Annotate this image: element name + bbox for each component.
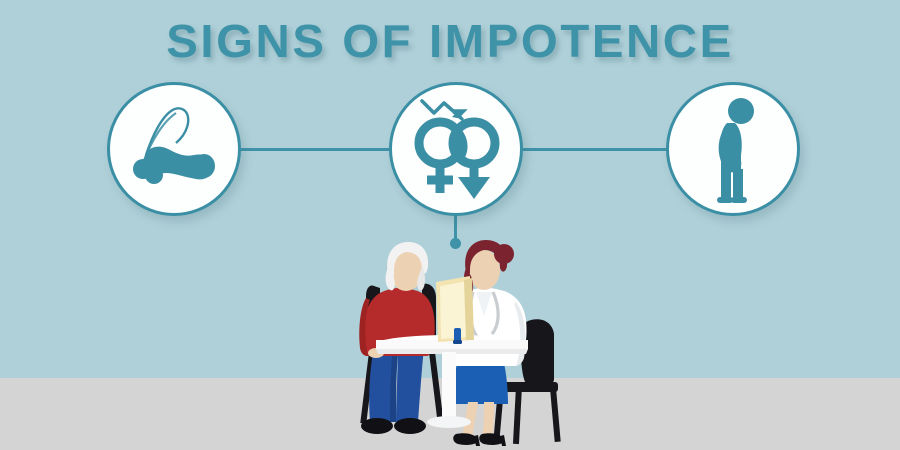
desk-pen xyxy=(453,328,462,344)
icon-circle-gender-symbols[interactable] xyxy=(389,82,523,216)
connector-left-to-center xyxy=(236,148,394,151)
page-title: SIGNS OF IMPOTENCE xyxy=(0,14,900,68)
doctor-hair-bun xyxy=(494,244,514,264)
poster-root: SIGNS OF IMPOTENCE xyxy=(0,0,900,450)
icon-circle-drooping-anatomy[interactable] xyxy=(107,82,241,216)
drooping-anatomy-icon xyxy=(110,85,238,213)
connector-center-to-right xyxy=(518,148,670,151)
doctor-heels xyxy=(453,433,506,446)
icon-circle-dejected-man[interactable] xyxy=(666,82,800,216)
dejected-man-icon xyxy=(669,85,797,213)
patient-head xyxy=(386,242,429,291)
gender-symbols-declining-icon xyxy=(392,85,520,213)
doctor-consultation-scene xyxy=(330,236,590,450)
